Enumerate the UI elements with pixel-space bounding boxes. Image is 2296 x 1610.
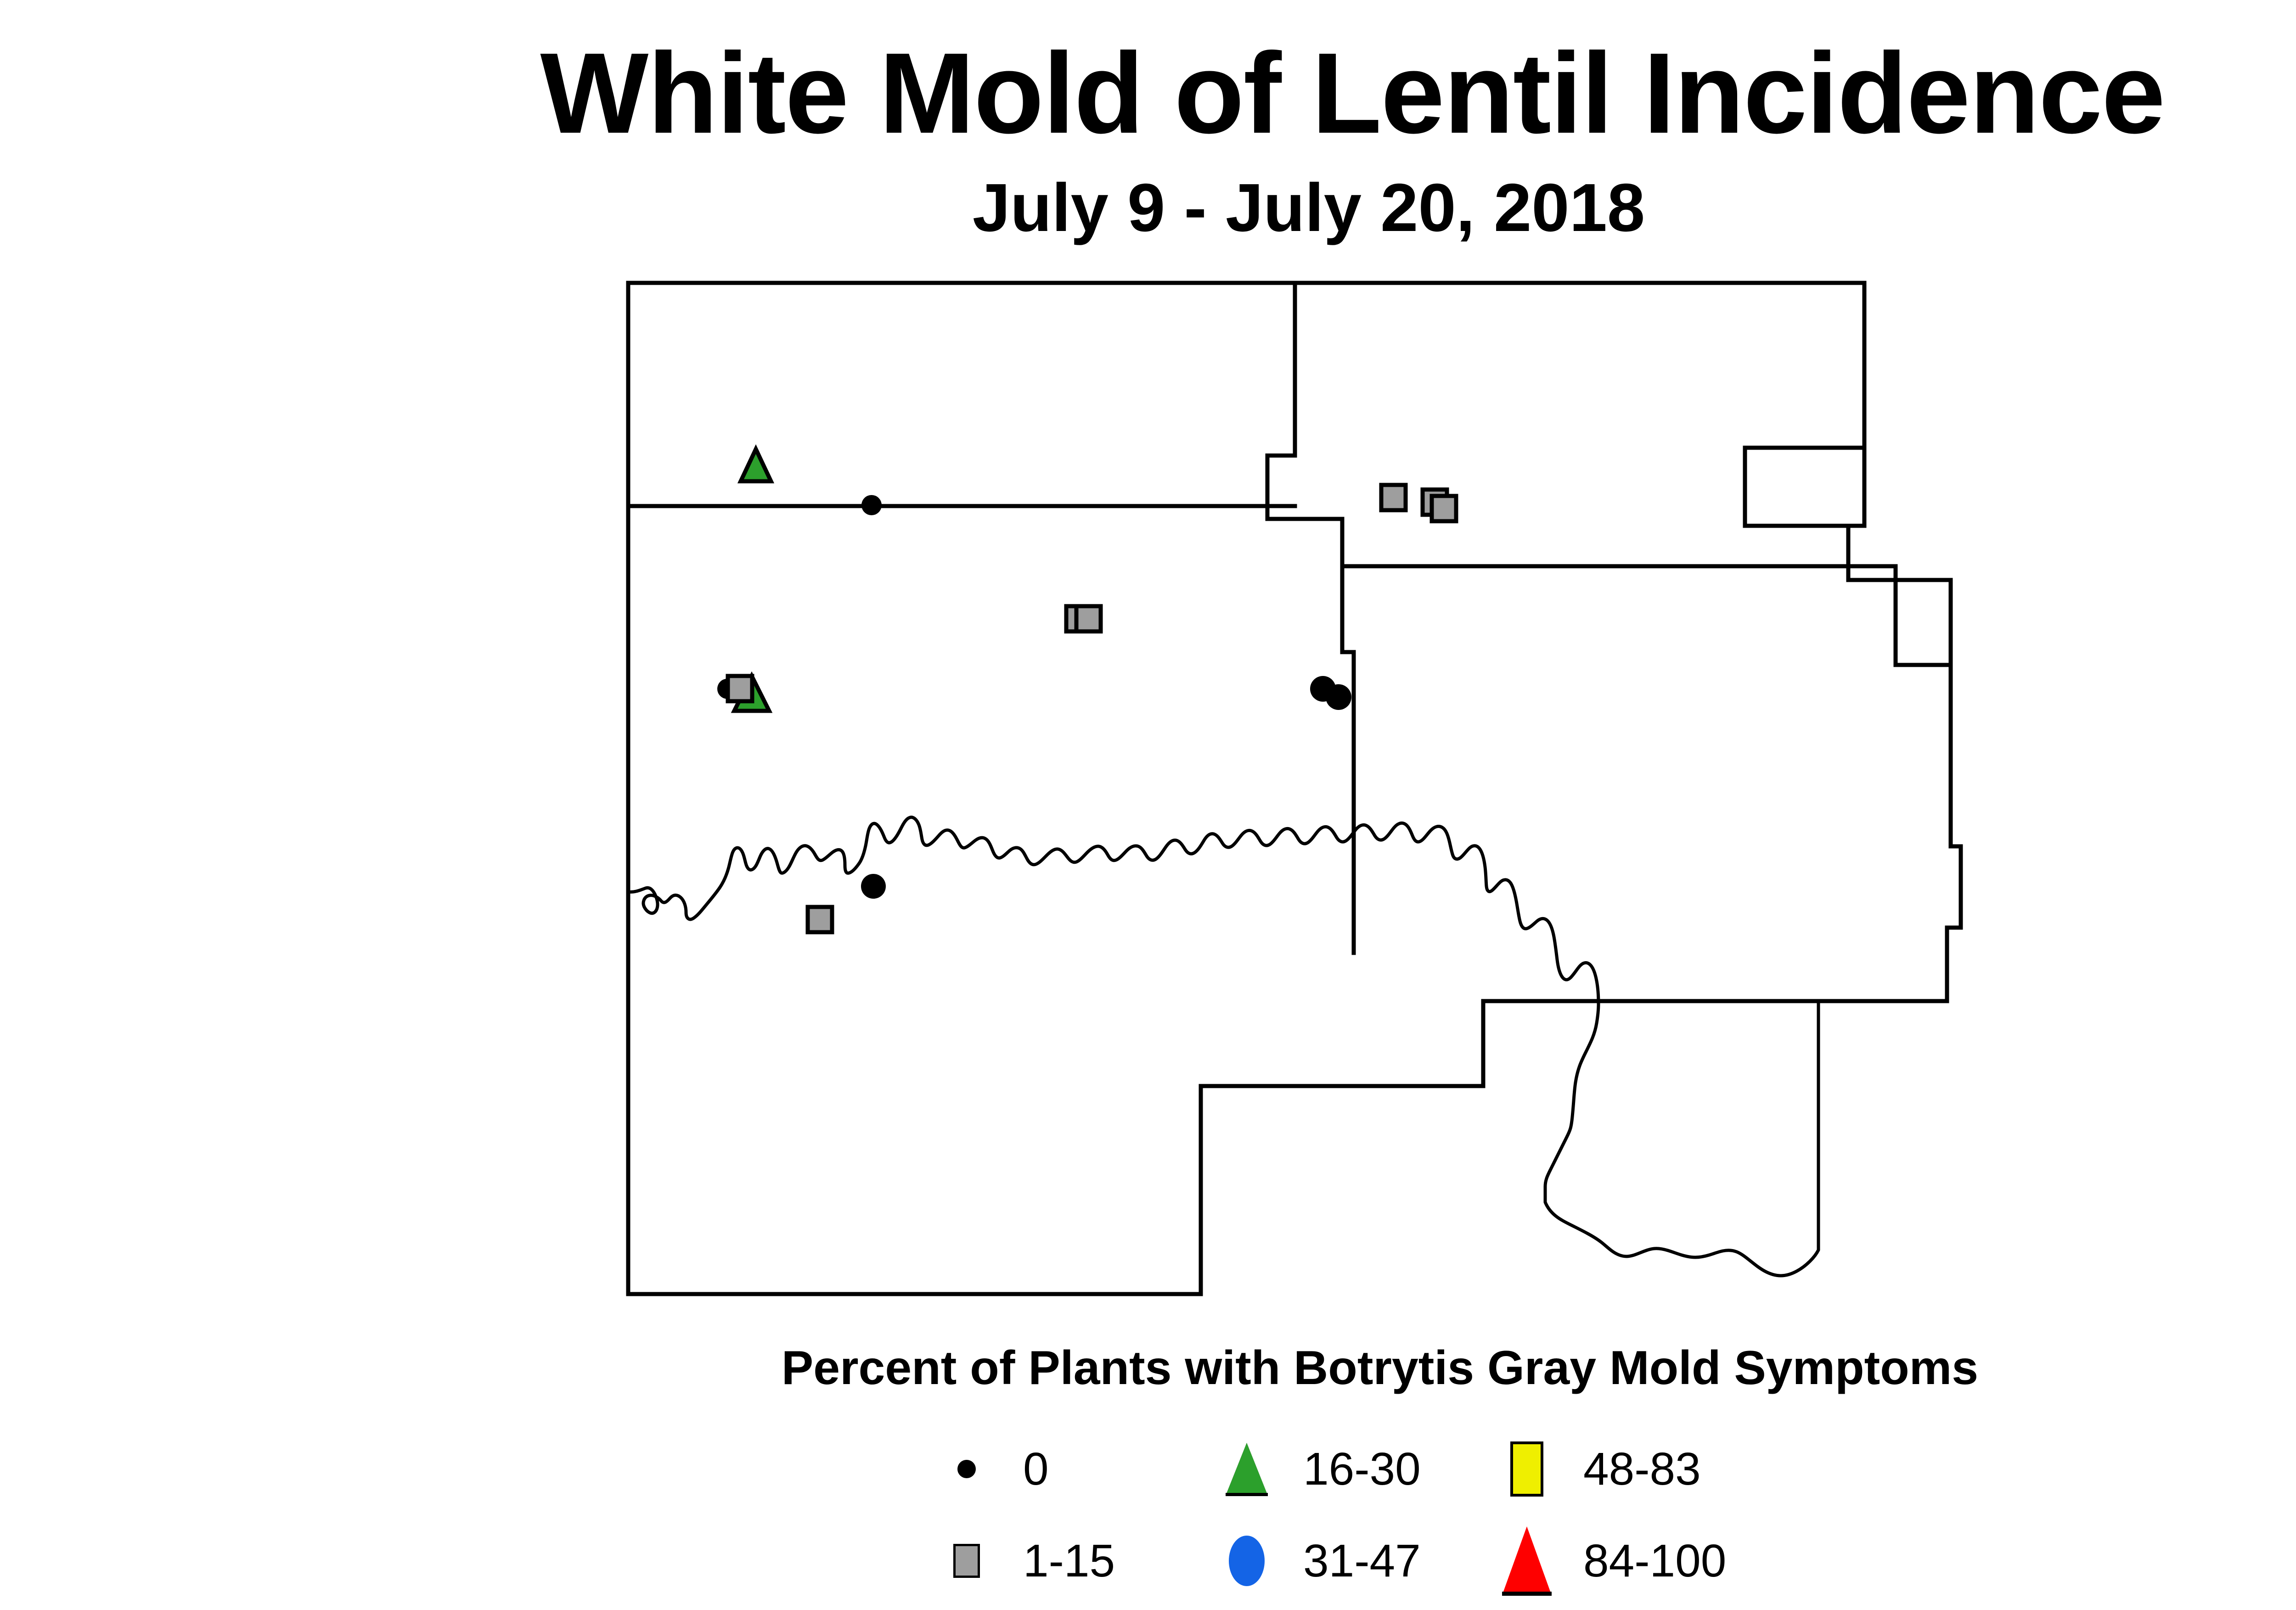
marker-triangle-green[interactable] <box>741 449 771 481</box>
legend-item-1-15[interactable]: 1-15 <box>932 1535 1212 1587</box>
legend-item-48-83[interactable]: 48-83 <box>1492 1441 1773 1497</box>
legend-item-label: 31-47 <box>1303 1535 1421 1587</box>
marker-square-gray[interactable] <box>1076 606 1101 631</box>
marker-square-gray[interactable] <box>1432 496 1456 521</box>
county-boundaries <box>628 283 1961 1294</box>
square-marker-yellow-icon <box>1492 1441 1561 1497</box>
boundary-east-mid-left <box>1342 566 1354 953</box>
marker-square-gray[interactable] <box>808 907 832 932</box>
legend-item-label: 48-83 <box>1583 1443 1701 1496</box>
legend-item-16-30[interactable]: 16-30 <box>1212 1443 1492 1496</box>
legend: Percent of Plants with Botrytis Gray Mol… <box>0 1341 2296 1607</box>
marker-dot-black[interactable] <box>861 495 882 515</box>
legend-item-label: 84-100 <box>1583 1535 1726 1587</box>
marker-square-gray[interactable] <box>728 676 752 701</box>
legend-rows: 0 16-30 48-83 1-15 <box>0 1423 2296 1607</box>
marker-dot-black[interactable] <box>1326 684 1351 710</box>
legend-row: 0 16-30 48-83 <box>932 1423 2296 1515</box>
boundary-ne-right-notch <box>1745 448 1864 526</box>
legend-item-84-100[interactable]: 84-100 <box>1492 1526 1773 1595</box>
triangle-marker-red-icon <box>1492 1526 1561 1595</box>
legend-item-0[interactable]: 0 <box>932 1443 1212 1496</box>
page-title: White Mold of Lentil Incidence <box>0 33 2296 154</box>
marker-dot-black[interactable] <box>861 874 886 899</box>
legend-title: Percent of Plants with Botrytis Gray Mol… <box>0 1341 2296 1396</box>
boundary-ne-left-vertical <box>1267 283 1295 519</box>
dot-marker-icon <box>932 1460 1001 1478</box>
square-marker-gray-icon <box>932 1544 1001 1578</box>
legend-row: 1-15 31-47 84-100 <box>932 1515 2296 1607</box>
circle-marker-blue-icon <box>1212 1536 1281 1586</box>
triangle-marker-green-icon <box>1212 1443 1281 1496</box>
legend-item-label: 16-30 <box>1303 1443 1421 1496</box>
legend-item-label: 0 <box>1023 1443 1049 1496</box>
date-range-subtitle: July 9 - July 20, 2018 <box>0 172 2296 243</box>
marker-square-gray[interactable] <box>1381 485 1406 510</box>
river-boundary <box>628 817 1818 1276</box>
legend-item-31-47[interactable]: 31-47 <box>1212 1535 1492 1587</box>
legend-item-label: 1-15 <box>1023 1535 1115 1587</box>
map-markers <box>717 449 1456 932</box>
